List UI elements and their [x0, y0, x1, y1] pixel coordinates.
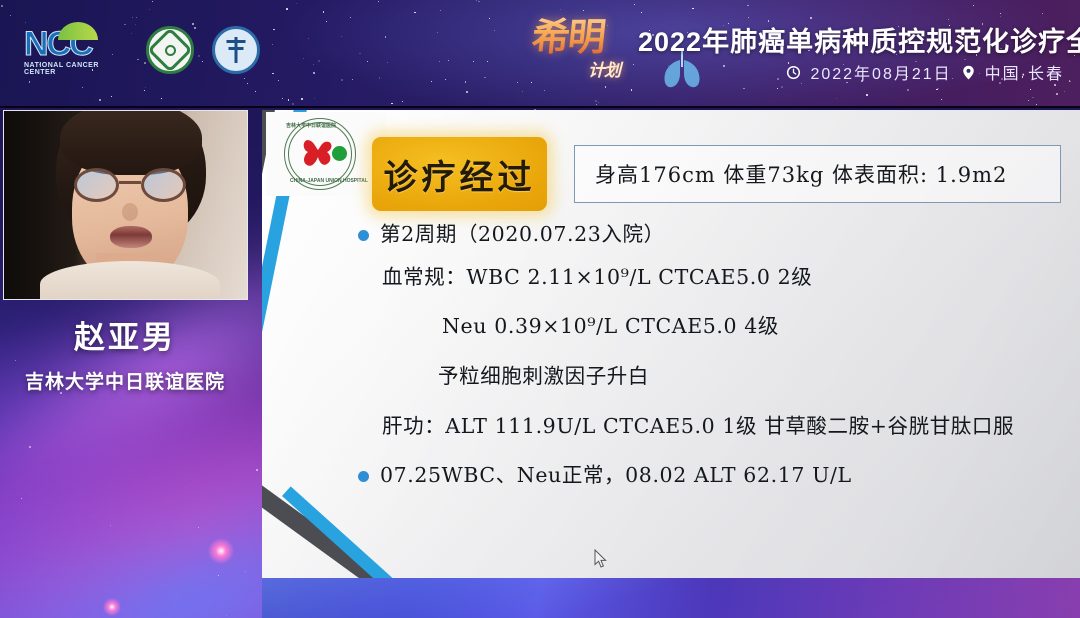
hospital-logo: 吉林大学中日联谊医院 CHINA-JAPAN UNION HOSPITAL — [266, 112, 386, 196]
slide-line-text: 第2周期（2020.07.23入院） — [380, 222, 665, 248]
slide-line: Neu 0.39×10⁹/L CTCAE5.0 4级 — [358, 314, 1070, 340]
mouse-pointer-icon — [594, 549, 607, 568]
speaker-organization: 吉林大学中日联谊医院 — [0, 367, 250, 394]
program-logo: 希明 计划 — [532, 16, 652, 94]
speaker-mouth — [110, 226, 152, 248]
slide-line-text: 肝功：ALT 111.9U/L CTCAE5.0 1级 甘草酸二胺+谷胱甘肽口服 — [382, 414, 1014, 440]
slide-title: 诊疗经过 — [384, 150, 536, 199]
slide-line: 血常规：WBC 2.11×10⁹/L CTCAE5.0 2级 — [358, 265, 1070, 291]
map-pin-icon — [961, 65, 976, 80]
slide-title-box: 诊疗经过 — [372, 137, 547, 211]
event-meta: 2022年08月21日 中国·长春 — [786, 60, 1064, 84]
program-logo-text: 希明 — [530, 16, 654, 58]
speaker-nose — [122, 203, 138, 221]
slide-line: 肝功：ALT 111.9U/L CTCAE5.0 1级 甘草酸二胺+谷胱甘肽口服 — [358, 414, 1070, 440]
bullet-icon — [358, 230, 369, 241]
slide-bottom-glow — [262, 578, 1080, 618]
glow-dot — [103, 598, 121, 616]
event-location: 中国·长春 — [985, 60, 1064, 84]
speaker-name: 赵亚男 — [0, 312, 250, 357]
slide-line: 第2周期（2020.07.23入院） — [358, 222, 1070, 248]
ncc-logo-subtitle: NATIONAL CANCER CENTER — [24, 62, 128, 76]
program-logo-subtitle: 计划 — [588, 56, 620, 81]
speaker-collar — [40, 261, 220, 300]
slide-line: 07.25WBC、Neu正常，08.02 ALT 62.17 U/L — [358, 463, 1070, 489]
blue-seal-logo — [212, 26, 260, 74]
presentation-slide[interactable]: 吉林大学中日联谊医院 CHINA-JAPAN UNION HOSPITAL 诊疗… — [262, 110, 1080, 578]
slide-line-text: 血常规：WBC 2.11×10⁹/L CTCAE5.0 2级 — [382, 265, 812, 291]
bullet-icon — [358, 471, 369, 482]
slide-line-text: Neu 0.39×10⁹/L CTCAE5.0 4级 — [442, 314, 779, 340]
speaker-info: 赵亚男 吉林大学中日联谊医院 — [0, 312, 250, 394]
screen: NCC NATIONAL CANCER CENTER 希明 计划 2022年肺癌… — [0, 0, 1080, 618]
glow-dot — [208, 538, 234, 564]
patient-measurements: 身高176cm 体重73kg 体表面积: 1.9m2 — [575, 159, 1007, 189]
organizer-logos: NCC NATIONAL CANCER CENTER — [24, 24, 260, 76]
slide-line: 予粒细胞刺激因子升白 — [358, 364, 1070, 390]
event-date: 2022年08月21日 — [810, 60, 951, 84]
page-title: 2022年肺癌单病种质控规范化诊疗全国巡讲 — [638, 20, 1080, 59]
speaker-glasses — [74, 168, 186, 202]
slide-line-text: 07.25WBC、Neu正常，08.02 ALT 62.17 U/L — [380, 463, 852, 489]
webcam-video[interactable] — [3, 110, 248, 300]
slide-body: 第2周期（2020.07.23入院） 血常规：WBC 2.11×10⁹/L CT… — [358, 222, 1070, 568]
ncc-logo: NCC NATIONAL CANCER CENTER — [24, 24, 128, 76]
clock-icon — [786, 65, 801, 80]
event-title-block: 希明 计划 2022年肺癌单病种质控规范化诊疗全国巡讲 2022年08月21日 — [532, 14, 1072, 100]
hospital-emblem-icon — [300, 138, 336, 170]
event-header: NCC NATIONAL CANCER CENTER 希明 计划 2022年肺癌… — [0, 0, 1080, 108]
speaker-bangs — [60, 110, 202, 175]
green-seal-logo — [146, 26, 194, 74]
patient-measurements-box: 身高176cm 体重73kg 体表面积: 1.9m2 — [574, 145, 1061, 203]
slide-line-text: 予粒细胞刺激因子升白 — [438, 364, 649, 390]
